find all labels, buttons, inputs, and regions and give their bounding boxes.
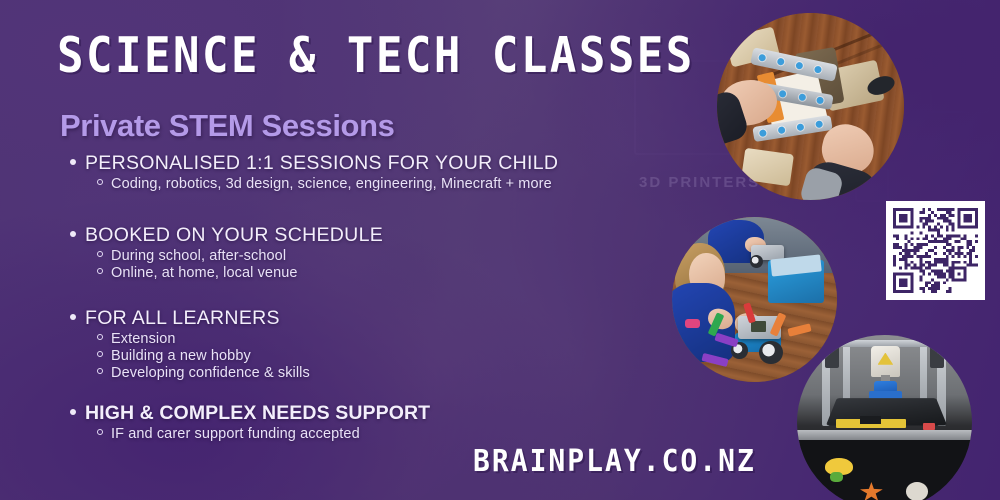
feature-subitem-row: Online, at home, local venue [97, 265, 383, 281]
feature-block: HIGH & COMPLEX NEEDS SUPPORT IF and care… [70, 402, 430, 442]
feature-heading: HIGH & COMPLEX NEEDS SUPPORT [85, 402, 430, 425]
bullet-dot-icon [70, 409, 76, 415]
feature-heading-row: BOOKED ON YOUR SCHEDULE [70, 224, 383, 247]
bullet-ring-icon [97, 179, 103, 185]
bullet-ring-icon [97, 351, 103, 357]
feature-subitem-row: Extension [97, 331, 310, 347]
page-subtitle: Private STEM Sessions [60, 108, 394, 144]
bullet-ring-icon [97, 368, 103, 374]
feature-subitem: Extension [111, 331, 176, 347]
feature-subitem: During school, after-school [111, 248, 286, 264]
feature-heading: FOR ALL LEARNERS [85, 307, 280, 330]
bullet-dot-icon [70, 314, 76, 320]
feature-block: FOR ALL LEARNERS Extension Building a ne… [70, 307, 310, 381]
feature-subitem-row: Coding, robotics, 3d design, science, en… [97, 176, 558, 192]
photo-3d-printer [797, 335, 972, 500]
bullet-ring-icon [97, 429, 103, 435]
bullet-ring-icon [97, 268, 103, 274]
qr-code[interactable] [886, 201, 985, 300]
feature-subitem: Coding, robotics, 3d design, science, en… [111, 176, 552, 192]
feature-heading-row: HIGH & COMPLEX NEEDS SUPPORT [70, 402, 430, 425]
poster-canvas: 3D PRINTERS SCIENCE & TECH CLASSES Priva… [0, 0, 1000, 500]
feature-subitem: Building a new hobby [111, 348, 251, 364]
page-title: SCIENCE & TECH CLASSES [57, 27, 695, 84]
bullet-ring-icon [97, 334, 103, 340]
qr-canvas [893, 208, 978, 293]
feature-heading-row: FOR ALL LEARNERS [70, 307, 310, 330]
bullet-dot-icon [70, 231, 76, 237]
bullet-dot-icon [70, 159, 76, 165]
feature-block: BOOKED ON YOUR SCHEDULE During school, a… [70, 224, 383, 281]
feature-subitem-row: Building a new hobby [97, 348, 310, 364]
feature-subitem-row: Developing confidence & skills [97, 365, 310, 381]
feature-heading: PERSONALISED 1:1 SESSIONS FOR YOUR CHILD [85, 152, 558, 175]
feature-heading-row: PERSONALISED 1:1 SESSIONS FOR YOUR CHILD [70, 152, 558, 175]
feature-subitem: Developing confidence & skills [111, 365, 310, 381]
feature-subitem-row: During school, after-school [97, 248, 383, 264]
feature-subitem: IF and carer support funding accepted [111, 426, 360, 442]
feature-heading: BOOKED ON YOUR SCHEDULE [85, 224, 383, 247]
photo-robotics-kit [717, 13, 904, 200]
feature-subitem-row: IF and carer support funding accepted [97, 426, 430, 442]
bullet-ring-icon [97, 251, 103, 257]
website-url[interactable]: BRAINPLAY.CO.NZ [473, 443, 756, 479]
feature-subitem: Online, at home, local venue [111, 265, 298, 281]
feature-block: PERSONALISED 1:1 SESSIONS FOR YOUR CHILD… [70, 152, 558, 192]
